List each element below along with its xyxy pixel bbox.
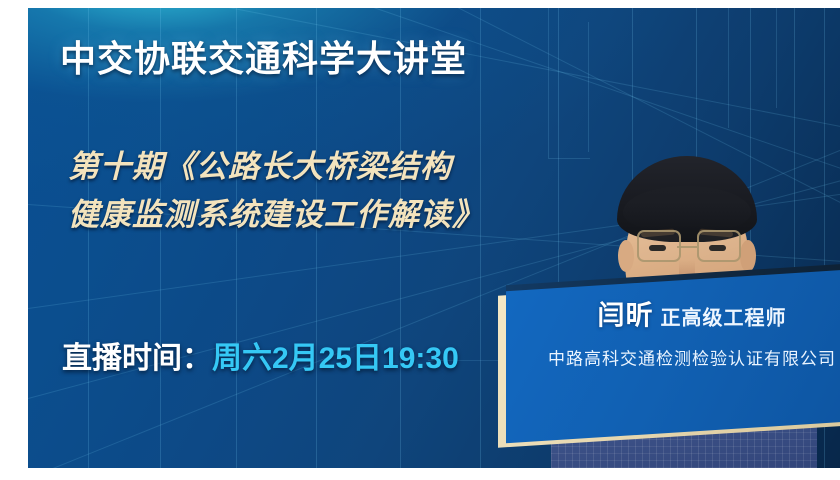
portrait-eyeglass-bridge (677, 246, 697, 248)
portrait-hair (617, 156, 757, 242)
portrait-ear-left (618, 240, 634, 272)
card-body: 闫昕正高级工程师 中路高科交通检测检验认证有限公司 (506, 268, 840, 443)
speaker-name: 闫昕 (598, 300, 654, 330)
live-stream-poster: 中交协联交通科学大讲堂 第十期《公路长大桥梁结构 健康监测系统建设工作解读》 直… (28, 8, 840, 468)
portrait-eye-left (649, 245, 666, 251)
episode-subtitle: 第十期《公路长大桥梁结构 健康监测系统建设工作解读》 (68, 143, 588, 239)
main-title: 中交协联交通科学大讲堂 (60, 30, 467, 82)
episode-subtitle-line1: 第十期《公路长大桥梁结构 (68, 149, 452, 184)
broadcast-time-row: 直播时间：周六2月25日19:30 (62, 333, 459, 377)
broadcast-time-value: 周六2月25日19:30 (212, 342, 459, 375)
episode-subtitle-line2: 健康监测系统建设工作解读》 (68, 191, 588, 239)
speaker-organization: 中路高科交通检测检验认证有限公司 (506, 344, 840, 369)
speaker-name-row: 闫昕正高级工程师 (506, 293, 840, 332)
portrait-eye-right (709, 245, 726, 251)
broadcast-time-label: 直播时间： (62, 342, 212, 375)
card-content: 闫昕正高级工程师 中路高科交通检测检验认证有限公司 (506, 279, 840, 431)
speaker-info-card: 闫昕正高级工程师 中路高科交通检测检验认证有限公司 (498, 268, 840, 443)
speaker-job-title: 正高级工程师 (661, 307, 787, 329)
portrait-ear-right (740, 240, 756, 272)
